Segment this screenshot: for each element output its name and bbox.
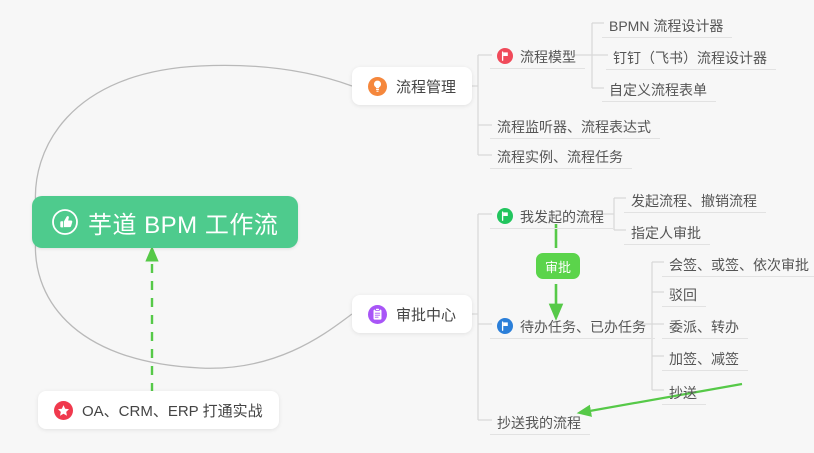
leaf-add-remove-sign[interactable]: 加签、减签: [662, 341, 748, 371]
node-label: 流程模型: [520, 50, 576, 64]
thumbs-up-icon: [52, 209, 78, 235]
branch-label: 流程管理: [396, 76, 456, 97]
branch-label: 审批中心: [396, 304, 456, 325]
leaf-dingtalk-feishu-designer[interactable]: 钉钉（飞书）流程设计器: [606, 40, 776, 70]
leaf-designated-approver[interactable]: 指定人审批: [624, 215, 710, 245]
leaf-label: 指定人审批: [631, 226, 701, 240]
floating-node-label: OA、CRM、ERP 打通实战: [82, 400, 263, 421]
mindmap-canvas: 芋道 BPM 工作流 流程管理 流程模型 BPMN 流程设计器 钉钉（飞书: [0, 0, 814, 453]
node-my-initiated-process[interactable]: 我发起的流程: [490, 199, 613, 229]
branch-approval-center[interactable]: 审批中心: [352, 295, 472, 333]
leaf-countersign-or-sequential[interactable]: 会签、或签、依次审批: [662, 247, 814, 277]
flag-icon: [497, 48, 513, 64]
edge-root-to-approval-center: [35, 236, 352, 368]
star-icon: [54, 401, 73, 420]
edge-root-to-process-management: [35, 65, 352, 208]
leaf-label: BPMN 流程设计器: [609, 19, 723, 33]
leaf-label: 抄送: [669, 386, 697, 400]
node-process-model[interactable]: 流程模型: [490, 39, 585, 69]
leaf-process-listener-expression[interactable]: 流程监听器、流程表达式: [490, 109, 660, 139]
leaf-label: 发起流程、撤销流程: [631, 194, 757, 208]
clipboard-icon: [368, 305, 387, 324]
root-label: 芋道 BPM 工作流: [88, 205, 278, 240]
floating-node-integration-practice[interactable]: OA、CRM、ERP 打通实战: [38, 391, 279, 429]
leaf-label: 委派、转办: [669, 320, 739, 334]
leaf-cc-to-me-process[interactable]: 抄送我的流程: [490, 405, 590, 435]
node-label: 我发起的流程: [520, 210, 604, 224]
node-todo-done-tasks[interactable]: 待办任务、已办任务: [490, 309, 655, 339]
leaf-label: 抄送我的流程: [497, 416, 581, 430]
approval-badge[interactable]: 审批: [536, 253, 580, 279]
leaf-reject[interactable]: 驳回: [662, 277, 706, 307]
leaf-delegate-transfer[interactable]: 委派、转办: [662, 309, 748, 339]
leaf-label: 自定义流程表单: [609, 83, 707, 97]
leaf-label: 钉钉（飞书）流程设计器: [613, 51, 767, 65]
leaf-label: 流程监听器、流程表达式: [497, 120, 651, 134]
leaf-start-cancel-process[interactable]: 发起流程、撤销流程: [624, 183, 766, 213]
leaf-bpmn-designer[interactable]: BPMN 流程设计器: [602, 8, 732, 38]
lightbulb-icon: [368, 77, 387, 96]
leaf-label: 流程实例、流程任务: [497, 150, 623, 164]
badge-label: 审批: [545, 257, 571, 276]
flag-icon: [497, 208, 513, 224]
leaf-label: 会签、或签、依次审批: [669, 258, 809, 272]
flag-icon: [497, 318, 513, 334]
node-label: 待办任务、已办任务: [520, 320, 646, 334]
root-node[interactable]: 芋道 BPM 工作流: [32, 196, 298, 248]
branch-process-management[interactable]: 流程管理: [352, 67, 472, 105]
leaf-label: 驳回: [669, 288, 697, 302]
leaf-process-instance-task[interactable]: 流程实例、流程任务: [490, 139, 632, 169]
leaf-carbon-copy[interactable]: 抄送: [662, 375, 706, 405]
leaf-label: 加签、减签: [669, 352, 739, 366]
leaf-custom-process-form[interactable]: 自定义流程表单: [602, 72, 716, 102]
